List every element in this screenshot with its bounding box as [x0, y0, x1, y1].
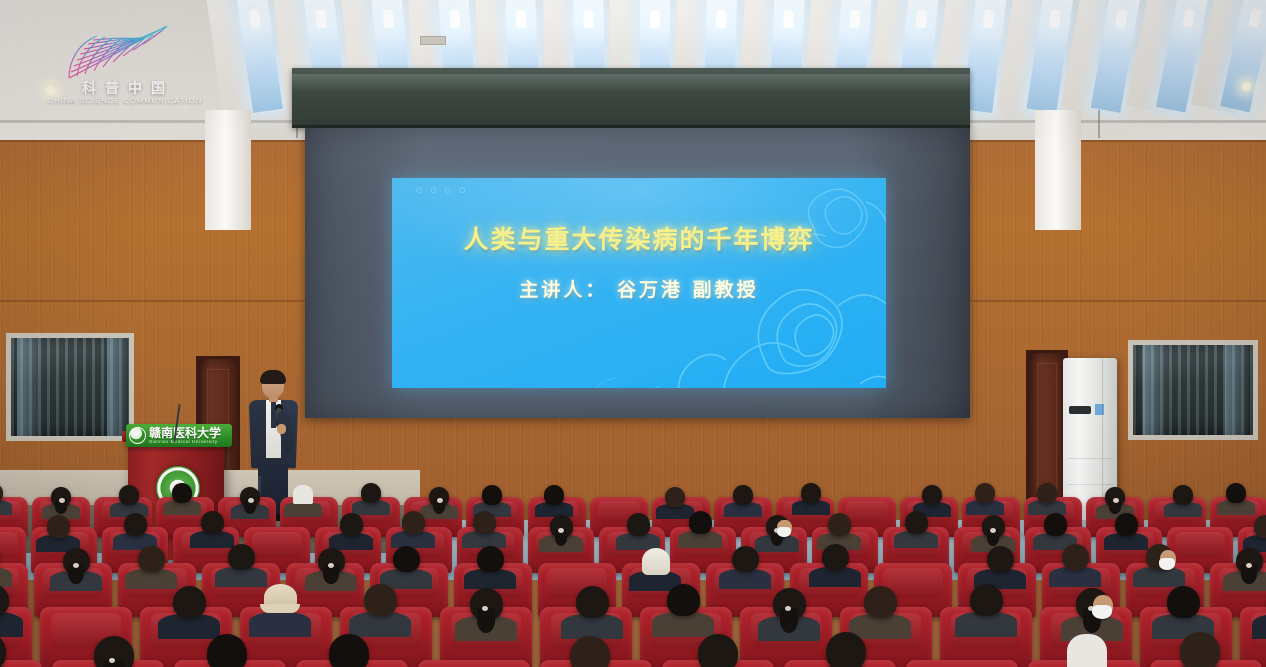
audience-head: [864, 586, 897, 618]
light-core: [382, 9, 394, 28]
audience-shoulders: [1049, 567, 1100, 587]
audience-hood: [642, 548, 670, 575]
window-left: [6, 333, 134, 441]
audience-head: [201, 511, 224, 534]
audience-head: [172, 483, 192, 503]
audience-head: [667, 584, 700, 616]
light-core: [249, 9, 261, 28]
audience-head: [1167, 586, 1200, 618]
ac-display-panel: [1069, 406, 1091, 414]
hair-tie: [328, 563, 334, 568]
audience-shoulders: [249, 612, 312, 637]
curtain-highlight: [17, 338, 43, 436]
audience-ponytail: [780, 608, 798, 633]
light-core: [583, 10, 593, 28]
audience-shoulders: [0, 500, 12, 515]
audience-head: [47, 515, 70, 538]
seat: [0, 660, 42, 667]
audience-head: [1062, 544, 1089, 570]
hair-tie: [248, 498, 254, 503]
audience-head: [689, 511, 712, 534]
light-core: [449, 10, 460, 29]
light-core: [916, 9, 928, 28]
audience-head: [975, 483, 995, 503]
university-logo-icon: [129, 427, 146, 444]
audience-head: [207, 634, 247, 667]
audience-head: [1044, 513, 1067, 536]
audience-head: [801, 483, 821, 503]
ceiling-hanger: [1098, 110, 1100, 138]
valance-sheen: [292, 74, 970, 92]
audience-shoulders: [284, 502, 322, 517]
curtain-highlight: [107, 338, 133, 436]
seat: [906, 660, 1018, 667]
audience-head: [293, 485, 313, 504]
speaker-hair: [260, 370, 286, 384]
audience-head: [124, 513, 147, 536]
light-core: [315, 9, 327, 28]
audience-head: [361, 483, 381, 503]
ceiling-spotlight: [46, 86, 55, 95]
audience-head: [970, 584, 1003, 616]
audience-shoulders: [955, 612, 1018, 637]
audience-head: [627, 513, 650, 536]
audience-head: [733, 485, 753, 505]
audience-head: [228, 544, 255, 570]
audience-shoulders: [1133, 567, 1184, 587]
video-frame: ○ ○ ○ ○ 人类与重大传染病的千年博弈 主讲人： 谷万港 副教授 赣南医科大…: [0, 0, 1266, 667]
hair-tie: [1113, 498, 1119, 503]
audience-head: [826, 632, 866, 667]
audience-head: [119, 485, 139, 505]
hair-tie: [73, 563, 79, 568]
audience-shoulders: [809, 567, 860, 587]
slide-presenter-line: 主讲人： 谷万港 副教授: [392, 275, 886, 302]
audience-shoulders: [464, 569, 515, 589]
hair-tie: [1246, 563, 1252, 568]
light-core: [716, 10, 726, 28]
audience-head: [698, 634, 738, 667]
pillar-left: [205, 110, 251, 230]
audience-head: [1226, 483, 1246, 503]
light-core: [783, 10, 794, 28]
audience-head: [828, 513, 851, 536]
audience-head: [822, 544, 849, 570]
audience-head: [905, 511, 928, 534]
face-mask: [777, 527, 791, 537]
seat: [418, 660, 530, 667]
audience-head: [544, 485, 564, 505]
audience-head: [482, 485, 502, 505]
light-core: [1115, 9, 1128, 28]
audience-head: [477, 546, 504, 572]
audience-head: [402, 511, 425, 534]
audience-head: [173, 586, 206, 618]
light-core: [1248, 8, 1262, 28]
audience-head: [665, 487, 685, 507]
screen-valance: [292, 68, 970, 128]
audience-head: [1067, 634, 1107, 667]
audience-head: [473, 511, 496, 534]
window-right: [1128, 340, 1258, 440]
audience-head: [1037, 483, 1057, 503]
university-name-en: Gannan Medical University: [149, 440, 221, 445]
slide-title: 人类与重大传染病的千年博弈: [392, 220, 886, 256]
face-mask: [1159, 558, 1175, 570]
speaker-hand: [277, 424, 286, 434]
audience-shoulders: [652, 612, 715, 637]
audience-head: [922, 485, 942, 505]
ceiling-fixture: [420, 36, 446, 45]
hair-tie: [59, 498, 65, 503]
light-core: [1182, 9, 1195, 29]
audience-head: [576, 586, 609, 618]
audience-area: [0, 455, 1266, 667]
light-core: [1049, 9, 1062, 28]
light-core: [650, 10, 660, 28]
light-core: [982, 9, 994, 28]
light-core: [849, 10, 860, 29]
audience-shoulders: [158, 614, 221, 639]
audience-shoulders: [125, 569, 176, 589]
podium-name-banner: 赣南医科大学 Gannan Medical University: [126, 424, 232, 447]
audience-shoulders: [215, 567, 266, 587]
audience-head: [340, 513, 363, 536]
audience-head: [138, 546, 165, 572]
pillar-right: [1035, 110, 1081, 230]
audience-head: [987, 546, 1014, 572]
curtain-highlight: [1225, 345, 1251, 435]
projected-slide: ○ ○ ○ ○ 人类与重大传染病的千年博弈 主讲人： 谷万港 副教授: [392, 178, 886, 388]
cap-brim: [260, 604, 300, 613]
light-core: [516, 10, 527, 28]
audience-head: [732, 546, 759, 572]
audience-head: [570, 636, 610, 667]
university-name-cn: 赣南医科大学: [149, 427, 221, 439]
audience-head: [393, 546, 420, 572]
audience-ponytail: [477, 608, 495, 633]
ceiling-spotlight: [1242, 82, 1251, 91]
audience-shoulders: [349, 612, 412, 637]
audience-head: [1173, 485, 1193, 505]
audience-head: [1115, 513, 1138, 536]
slide-corner-tag: ○ ○ ○ ○: [416, 186, 468, 194]
audience-head: [1180, 632, 1220, 667]
curtain-highlight: [1143, 345, 1169, 435]
audience-head: [329, 634, 369, 667]
hair-tie: [437, 498, 443, 503]
audience-head: [364, 584, 397, 616]
audience-shoulders: [719, 569, 770, 589]
